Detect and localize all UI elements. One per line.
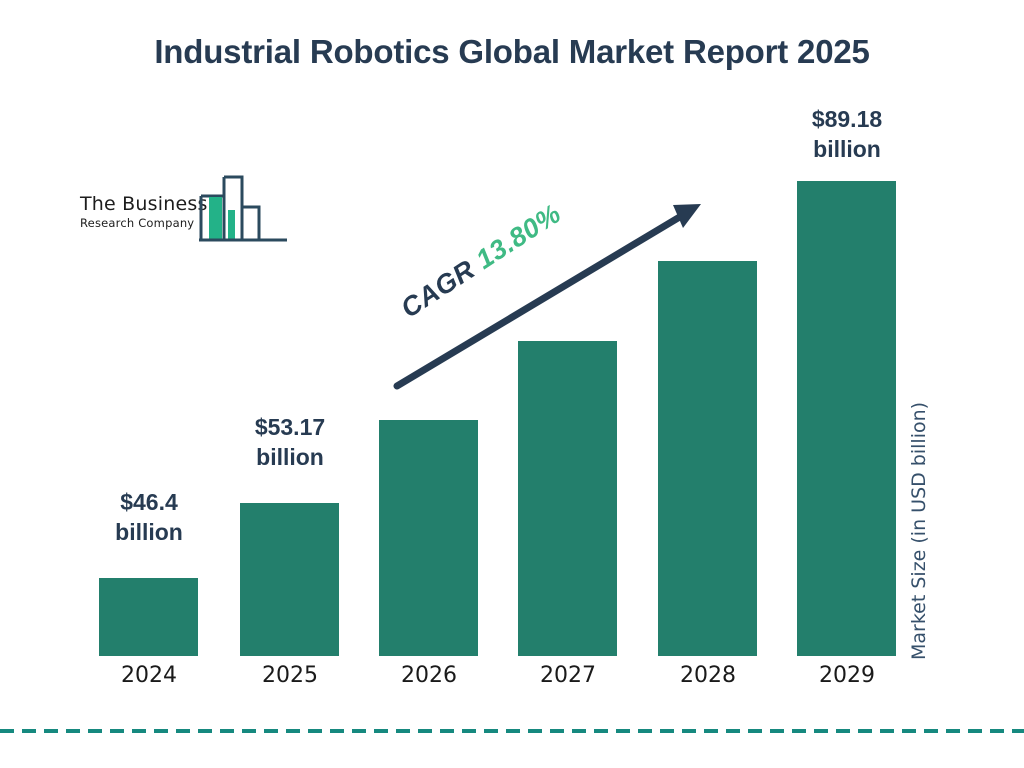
cagr-word: CAGR	[396, 254, 481, 324]
x-tick-2026: 2026	[379, 663, 479, 688]
x-tick-2027: 2027	[518, 663, 618, 688]
bar-2027	[518, 341, 617, 656]
bar-value-2025: $53.17 billion	[220, 412, 360, 472]
bar-value-2024: $46.4 billion	[79, 487, 219, 547]
cagr-value: 13.80%	[471, 198, 567, 275]
chart-page: Industrial Robotics Global Market Report…	[0, 0, 1024, 768]
bar-value-2029: $89.18 billion	[777, 104, 917, 164]
bar-chart-plot: $46.4 billion $53.17 billion $89.18 bill…	[0, 0, 1024, 768]
cagr-label: CAGR 13.80%	[396, 198, 567, 324]
x-tick-2028: 2028	[658, 663, 758, 688]
bar-value-2024-unit: billion	[79, 517, 219, 547]
bar-value-2029-unit: billion	[777, 134, 917, 164]
bottom-divider	[0, 729, 1024, 733]
bar-value-2029-amount: $89.18	[777, 104, 917, 134]
bar-2025	[240, 503, 339, 656]
bar-value-2024-amount: $46.4	[79, 487, 219, 517]
bar-value-2025-unit: billion	[220, 442, 360, 472]
bar-2024	[99, 578, 198, 656]
bar-2028	[658, 261, 757, 656]
y-axis-title-text: Market Size (in USD billion)	[908, 330, 930, 660]
y-axis-title: Market Size (in USD billion)	[908, 0, 942, 330]
bar-2026	[379, 420, 478, 656]
x-tick-2029: 2029	[797, 663, 897, 688]
x-tick-2025: 2025	[240, 663, 340, 688]
x-tick-2024: 2024	[99, 663, 199, 688]
bar-value-2025-amount: $53.17	[220, 412, 360, 442]
bar-2029	[797, 181, 896, 656]
